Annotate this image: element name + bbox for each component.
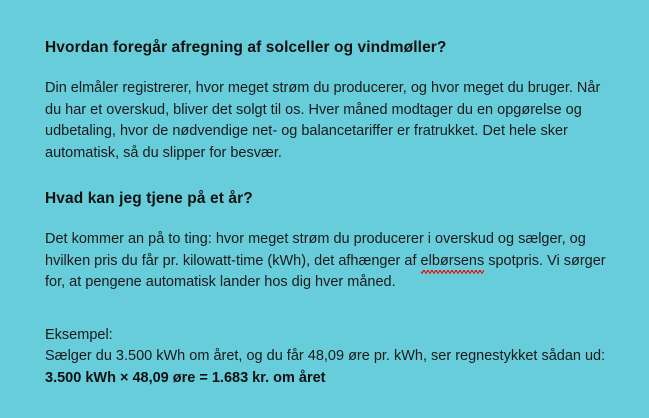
section-paragraph-tjene: Det kommer an på to ting: hvor meget str… [45, 229, 611, 294]
section-paragraph-afregning: Din elmåler registrerer, hvor meget strø… [45, 78, 611, 164]
example-block: Eksempel: Sælger du 3.500 kWh om året, o… [45, 325, 619, 390]
section-heading-afregning: Hvordan foregår afregning af solceller o… [45, 38, 619, 58]
section-heading-tjene: Hvad kan jeg tjene på et år? [45, 189, 619, 209]
example-body: Sælger du 3.500 kWh om året, og du får 4… [45, 346, 619, 389]
document-page: Hvordan foregår afregning af solceller o… [0, 0, 649, 418]
example-label: Eksempel: [45, 325, 619, 347]
misspelled-word-elborsens[interactable]: elbørsens [421, 251, 485, 273]
section-heading-wrapper: Hvad kan jeg tjene på et år? [45, 189, 619, 209]
example-calculation: 3.500 kWh × 48,09 øre = 1.683 kr. om åre… [45, 370, 326, 386]
example-body-text: Sælger du 3.500 kWh om året, og du får 4… [45, 348, 605, 364]
